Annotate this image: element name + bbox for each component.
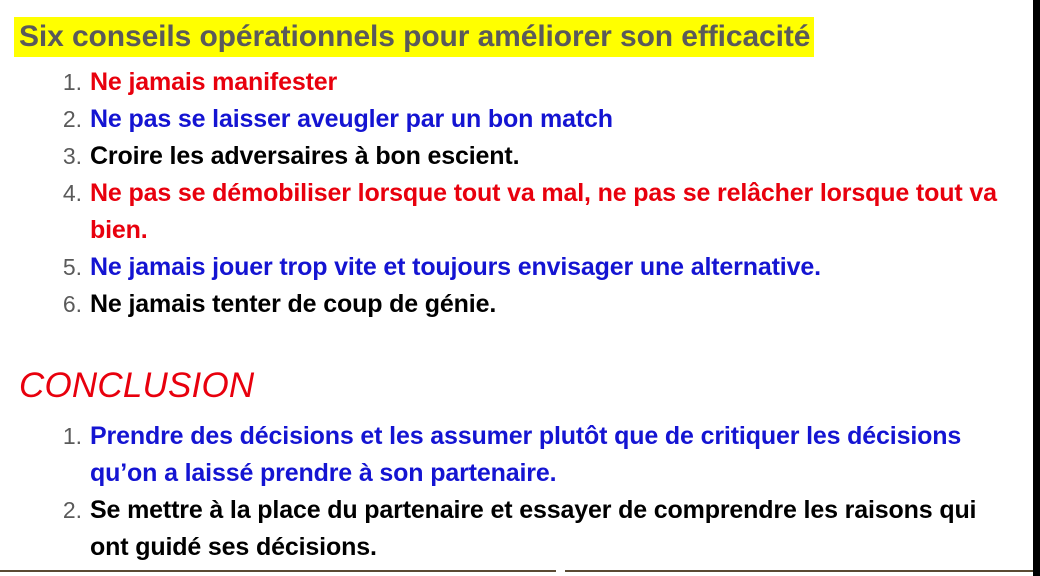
slide-title: Six conseils opérationnels pour améliore… [14, 17, 814, 57]
list-item-number: 2. [0, 101, 90, 138]
list-item-text: Ne pas se laisser aveugler par un bon ma… [90, 101, 1020, 138]
bottom-rule-right [565, 570, 1033, 572]
list-item: 1. Ne jamais manifester [0, 64, 1020, 101]
list-item: 4. Ne pas se démobiliser lorsque tout va… [0, 175, 1020, 249]
list-item: 3. Croire les adversaires à bon escient. [0, 138, 1020, 175]
conclusion-heading: CONCLUSION [19, 367, 254, 406]
list-item-text: Ne jamais jouer trop vite et toujours en… [90, 249, 1020, 286]
list-item-text: Se mettre à la place du partenaire et es… [90, 492, 1020, 566]
list-item-number: 4. [0, 175, 90, 212]
slide-title-text: Six conseils opérationnels pour améliore… [14, 17, 814, 57]
list-item-number: 6. [0, 286, 90, 323]
list-item-text: Prendre des décisions et les assumer plu… [90, 418, 1020, 492]
list-item: 2. Ne pas se laisser aveugler par un bon… [0, 101, 1020, 138]
list-item: 6. Ne jamais tenter de coup de génie. [0, 286, 1020, 323]
list-item-text: Ne jamais tenter de coup de génie. [90, 286, 1020, 323]
list-item-number: 5. [0, 249, 90, 286]
list-item-number: 1. [0, 418, 90, 455]
conseils-list: 1. Ne jamais manifester 2. Ne pas se lai… [0, 64, 1020, 323]
list-item: 5. Ne jamais jouer trop vite et toujours… [0, 249, 1020, 286]
right-edge-bar [1033, 0, 1040, 576]
list-item-number: 2. [0, 492, 90, 529]
slide-canvas: Six conseils opérationnels pour améliore… [0, 0, 1040, 576]
conclusion-list: 1. Prendre des décisions et les assumer … [0, 418, 1020, 566]
list-item-number: 1. [0, 64, 90, 101]
list-item-number: 3. [0, 138, 90, 175]
bottom-rule-left [0, 570, 556, 572]
list-item-text: Ne pas se démobiliser lorsque tout va ma… [90, 175, 1020, 249]
list-item-text: Croire les adversaires à bon escient. [90, 138, 1020, 175]
list-item-text: Ne jamais manifester [90, 64, 1020, 101]
list-item: 1. Prendre des décisions et les assumer … [0, 418, 1020, 492]
list-item: 2. Se mettre à la place du partenaire et… [0, 492, 1020, 566]
